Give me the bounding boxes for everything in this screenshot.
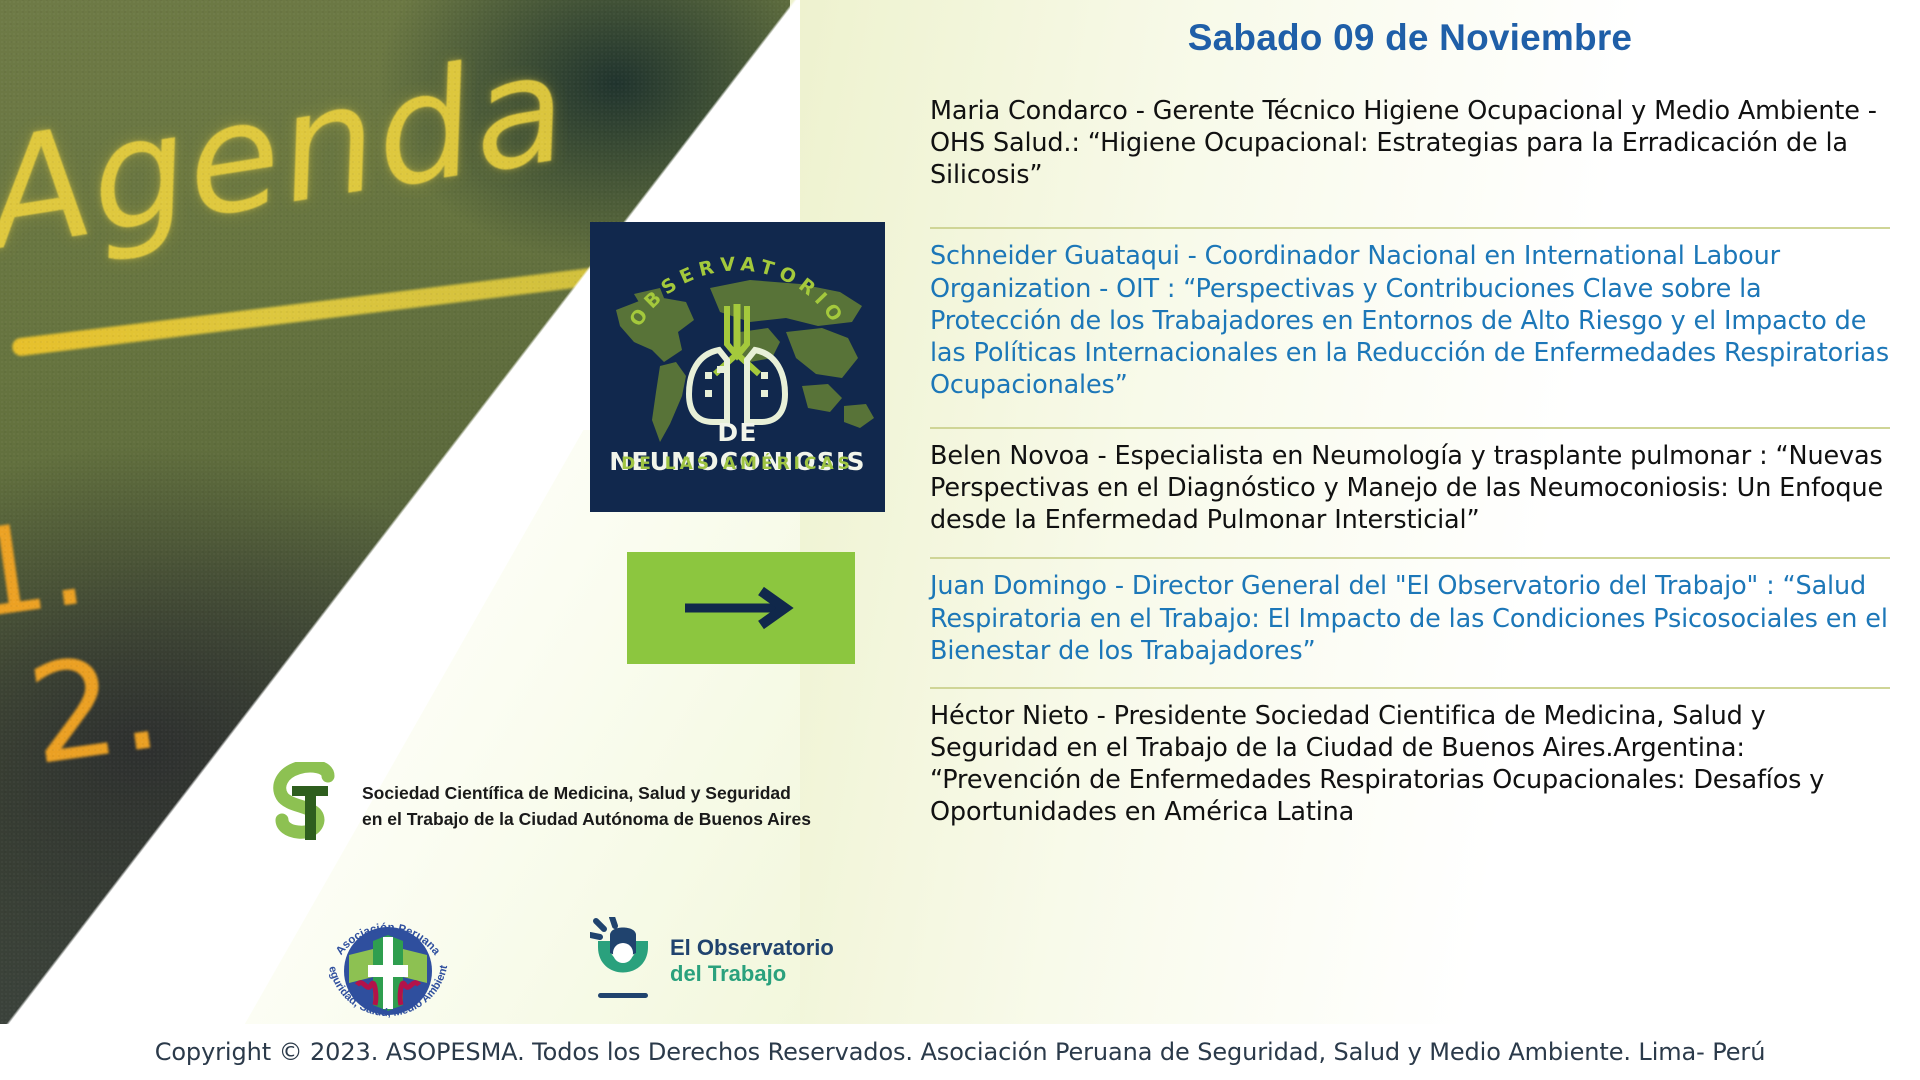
observatory-logo: OBSERVATORIO DE NEUMOCONIOSIS DE LAS AMÉ… xyxy=(590,222,885,512)
sociedad-cientifica-logo-icon xyxy=(270,762,344,850)
sponsor-sociedad-cientifica-text: Sociedad Científica de Medicina, Salud y… xyxy=(362,780,811,833)
sponsor-asopesma-logo: Asociación Peruana Seguridad, Salud, Med… xyxy=(313,893,463,1043)
chalk-number-one: 1. xyxy=(0,493,94,647)
agenda-item-text: Schneider Guataqui - Coordinador Naciona… xyxy=(930,240,1890,401)
copyright-text: Copyright © 2023. ASOPESMA. Todos los De… xyxy=(155,1038,1766,1066)
chalk-underline xyxy=(11,261,648,357)
lungs-icon xyxy=(675,300,800,428)
observatory-logo-line2: DE LAS AMÉRICAS xyxy=(590,454,885,474)
agenda-item-text: Maria Condarco - Gerente Técnico Higiene… xyxy=(930,95,1890,191)
agenda-item[interactable]: Juan Domingo - Director General del "El … xyxy=(930,557,1890,672)
sponsor-sociedad-cientifica: Sociedad Científica de Medicina, Salud y… xyxy=(270,760,870,852)
agenda-item[interactable]: Héctor Nieto - Presidente Sociedad Cient… xyxy=(930,687,1890,835)
chalk-number-two: 2. xyxy=(20,622,169,795)
agenda-item[interactable]: Maria Condarco - Gerente Técnico Higiene… xyxy=(930,73,1890,197)
el-observatorio-text: El Observatorio del Trabajo xyxy=(670,935,834,987)
arrow-right-icon xyxy=(681,585,801,631)
agenda-item-text: Juan Domingo - Director General del "El … xyxy=(930,570,1890,666)
agenda-content: Sabado 09 de Noviembre Maria Condarco - … xyxy=(930,0,1890,1025)
agenda-item[interactable]: Schneider Guataqui - Coordinador Naciona… xyxy=(930,227,1890,407)
agenda-item-text: Belen Novoa - Especialista en Neumología… xyxy=(930,440,1890,536)
eot-line-1: El Observatorio xyxy=(670,935,834,961)
sponsor-line-2: en el Trabajo de la Ciudad Autónoma de B… xyxy=(362,806,811,832)
chalkboard-photo: Agenda 1. 2. xyxy=(0,0,790,1040)
agenda-slide: Agenda 1. 2. OBSERVATORIO xyxy=(0,0,1920,1080)
sponsor-el-observatorio-del-trabajo: El Observatorio del Trabajo xyxy=(590,908,850,1013)
agenda-item[interactable]: Belen Novoa - Especialista en Neumología… xyxy=(930,427,1890,542)
sponsor-line-1: Sociedad Científica de Medicina, Salud y… xyxy=(362,780,811,806)
footer: Copyright © 2023. ASOPESMA. Todos los De… xyxy=(0,1024,1920,1080)
next-arrow-button[interactable] xyxy=(627,552,855,664)
eot-line-2: del Trabajo xyxy=(670,961,834,987)
agenda-list: Maria Condarco - Gerente Técnico Higiene… xyxy=(930,59,1890,834)
agenda-item-text: Héctor Nieto - Presidente Sociedad Cient… xyxy=(930,700,1890,829)
page-title: Sabado 09 de Noviembre xyxy=(930,17,1890,59)
el-observatorio-del-trabajo-logo-icon xyxy=(590,917,656,1005)
